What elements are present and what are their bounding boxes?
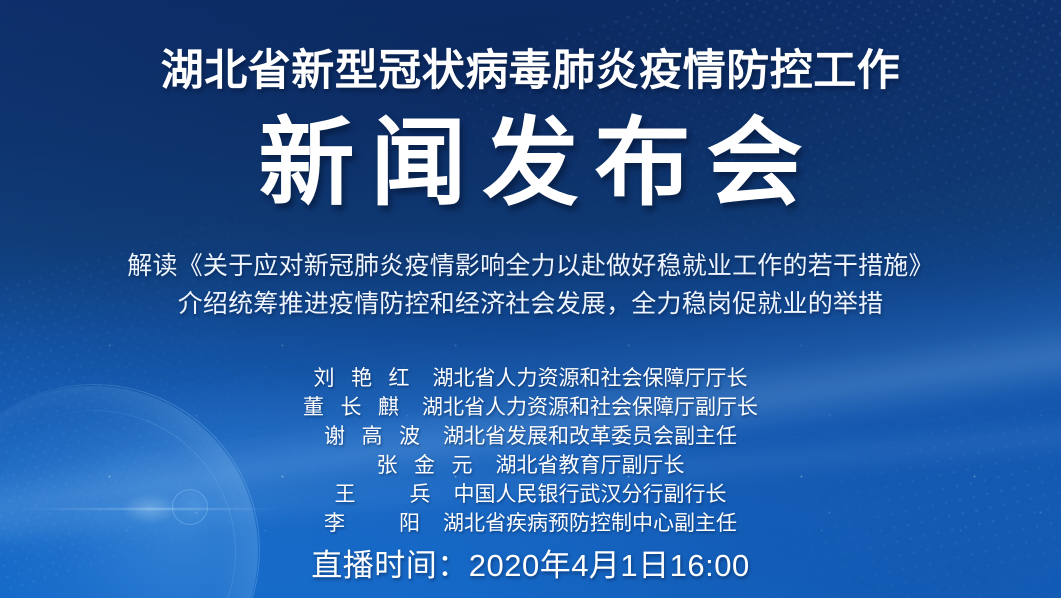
subtitle-block: 解读《关于应对新冠肺炎疫情影响全力以赴做好稳就业工作的若干措施》 介绍统筹推进疫… <box>0 247 1061 323</box>
speaker-row: 谢高波 湖北省发展和改革委员会副主任 <box>324 420 737 449</box>
speaker-title: 湖北省人力资源和社会保障厅副厅长 <box>422 391 758 421</box>
speaker-title: 湖北省发展和改革委员会副主任 <box>443 420 737 450</box>
headline-line-2: 新闻发布会 <box>0 116 1061 212</box>
speaker-list: 刘艳红 湖北省人力资源和社会保障厅厅长 董长麒 湖北省人力资源和社会保障厅副厅长… <box>0 362 1061 536</box>
headline-line-1: 湖北省新型冠状病毒肺炎疫情防控工作 <box>0 50 1061 93</box>
speaker-name: 王兵 <box>335 478 431 508</box>
subtitle-line-1: 解读《关于应对新冠肺炎疫情影响全力以赴做好稳就业工作的若干措施》 <box>0 247 1061 285</box>
speaker-name: 董长麒 <box>303 391 399 421</box>
subtitle-line-2: 介绍统筹推进疫情防控和经济社会发展，全力稳岗促就业的举措 <box>0 285 1061 323</box>
speaker-name: 谢高波 <box>324 420 420 450</box>
broadcast-time: 直播时间：2020年4月1日16:00 <box>0 540 1061 585</box>
speaker-row: 董长麒 湖北省人力资源和社会保障厅副厅长 <box>303 391 758 420</box>
press-conference-poster: 湖北省新型冠状病毒肺炎疫情防控工作 新闻发布会 解读《关于应对新冠肺炎疫情影响全… <box>0 0 1061 598</box>
poster-content: 湖北省新型冠状病毒肺炎疫情防控工作 新闻发布会 解读《关于应对新冠肺炎疫情影响全… <box>0 0 1061 598</box>
speaker-title: 湖北省人力资源和社会保障厅厅长 <box>433 362 748 392</box>
speaker-row: 刘艳红 湖北省人力资源和社会保障厅厅长 <box>314 362 748 391</box>
speaker-row: 李阳 湖北省疾病预防控制中心副主任 <box>324 507 737 536</box>
speaker-title: 湖北省教育厅副厅长 <box>496 449 685 479</box>
speaker-title: 湖北省疾病预防控制中心副主任 <box>443 507 737 537</box>
speaker-name: 张金元 <box>377 449 473 479</box>
speaker-row: 王兵 中国人民银行武汉分行副行长 <box>335 478 727 507</box>
speaker-row: 张金元 湖北省教育厅副厅长 <box>377 449 685 478</box>
speaker-name: 李阳 <box>324 507 420 537</box>
speaker-title: 中国人民银行武汉分行副行长 <box>454 478 727 508</box>
speaker-name: 刘艳红 <box>314 362 410 392</box>
